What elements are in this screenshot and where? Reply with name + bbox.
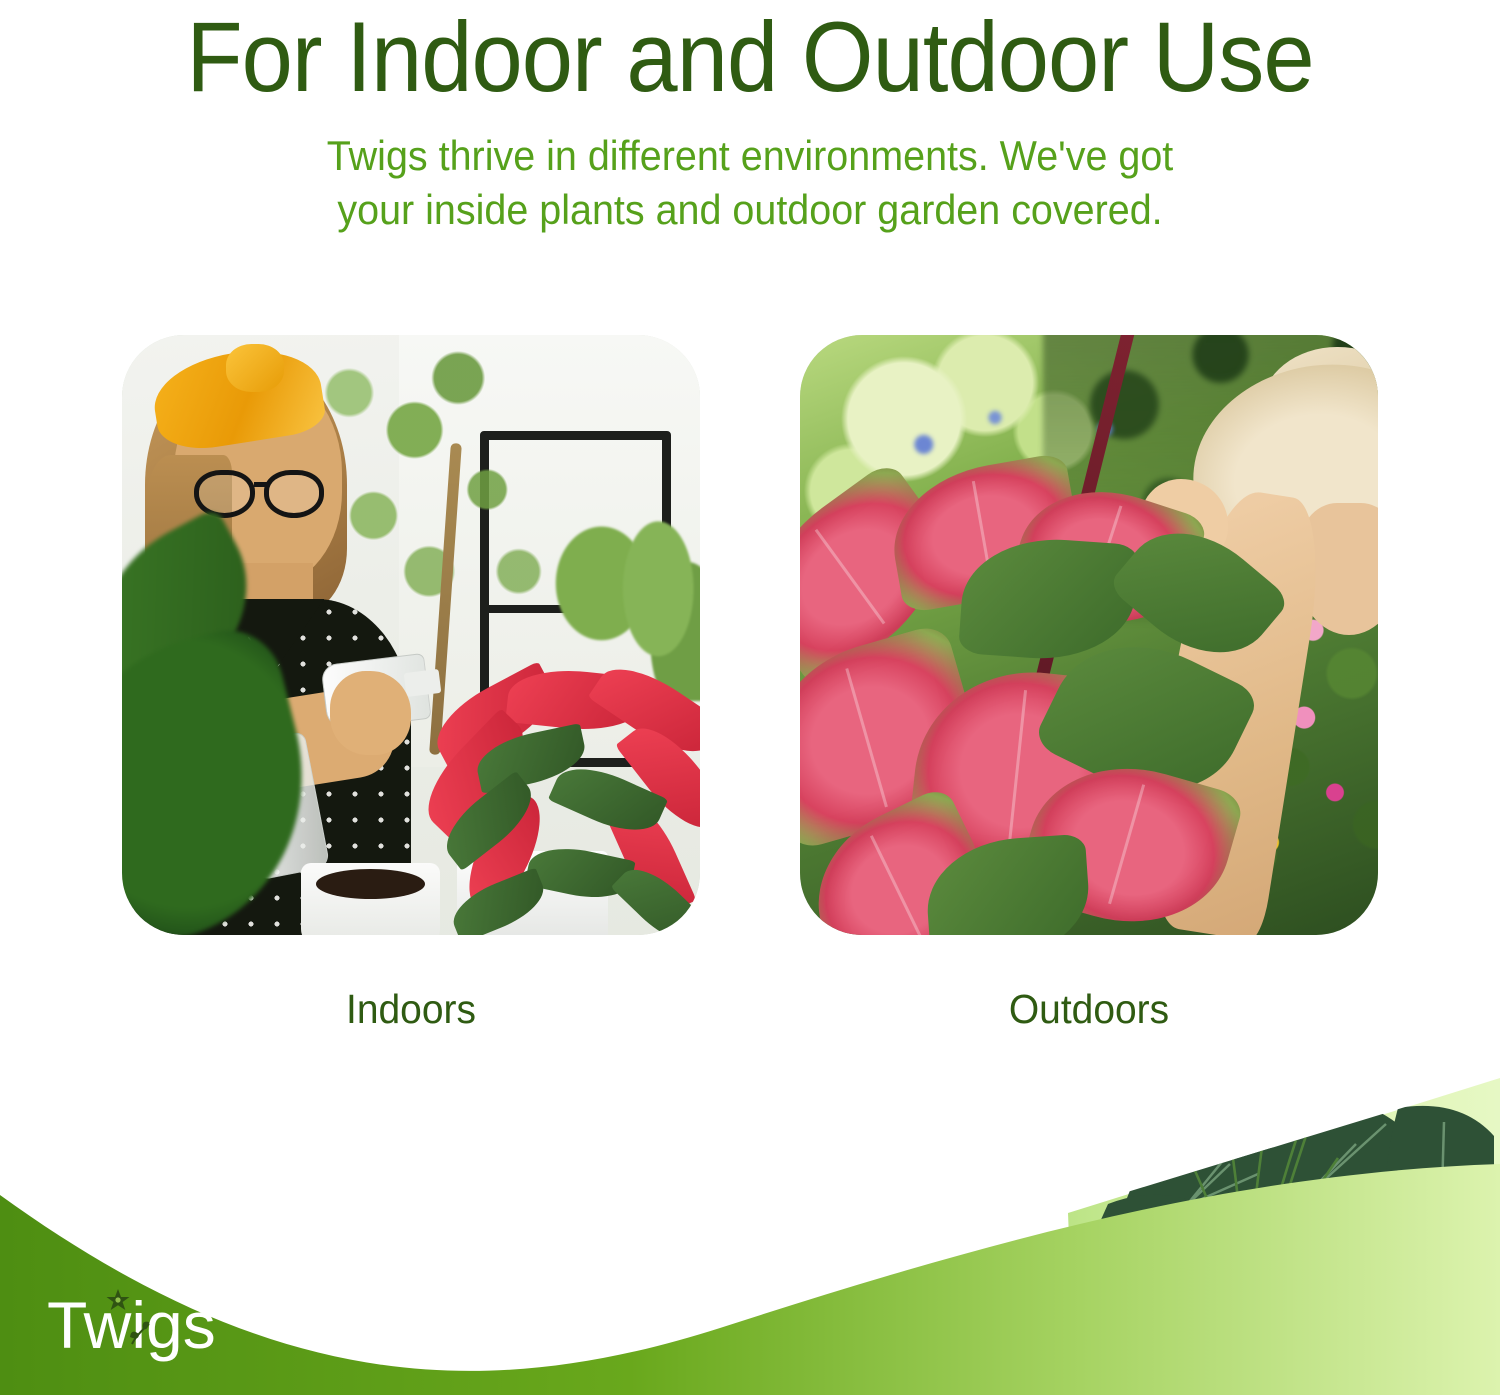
page-subtitle: Twigs thrive in different environments. … (45, 129, 1455, 237)
page-title: For Indoor and Outdoor Use (53, 2, 1448, 113)
card-caption-outdoors: Outdoors (814, 986, 1363, 1033)
woman-hand (330, 671, 411, 755)
outdoors-photo (800, 335, 1378, 935)
woman-headband-knot (226, 344, 284, 392)
glasses-bridge (254, 482, 268, 487)
glasses-right-lens (264, 470, 325, 518)
footer-wave-shape (0, 1164, 1500, 1395)
comparison-cards: Indoors (0, 335, 1500, 1033)
card-outdoors: Outdoors (800, 335, 1378, 1033)
footer-graphic (0, 1078, 1500, 1395)
card-indoors: Indoors (122, 335, 700, 1033)
indoor-potting-soil (316, 869, 426, 899)
indoors-photo (122, 335, 700, 935)
leaf-sprig-icon (128, 1320, 152, 1346)
footer-banner (0, 1078, 1500, 1395)
subtitle-line-2: your inside plants and outdoor garden co… (45, 183, 1455, 237)
card-caption-indoors: Indoors (136, 986, 685, 1033)
header: For Indoor and Outdoor Use Twigs thrive … (0, 0, 1500, 236)
poinsettia-plant (411, 671, 700, 935)
subtitle-line-1: Twigs thrive in different environments. … (45, 129, 1455, 183)
star-leaf-icon (105, 1288, 131, 1314)
glasses-left-lens (194, 470, 255, 518)
